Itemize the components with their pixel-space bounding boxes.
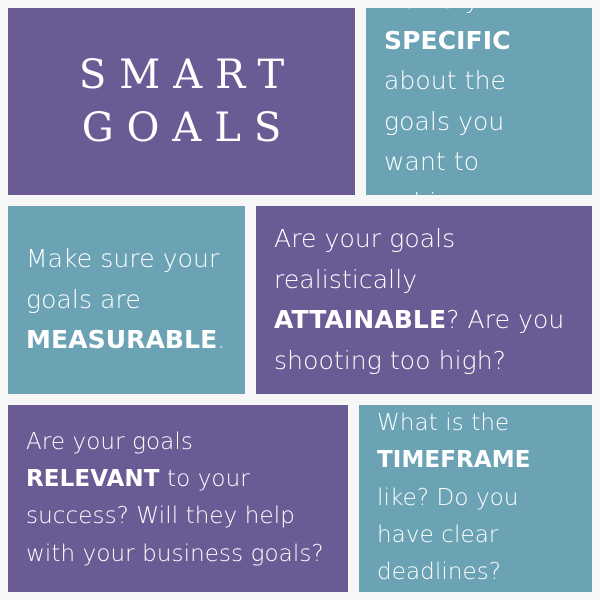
page-title: SMART GOALS	[8, 49, 355, 155]
title-line-goals: GOALS	[22, 102, 341, 155]
panel-timeframe-text: What is the TIMEFRAME like? Do you have …	[359, 405, 592, 591]
panel-attainable-text: Are your goals realistically ATTAINABLE?…	[256, 219, 592, 381]
timeframe-text-after: like? Do you have clear deadlines?	[377, 485, 519, 586]
measurable-text-after: .	[217, 325, 225, 354]
relevant-text-before: Are your goals	[26, 429, 193, 455]
panel-attainable: Are your goals realistically ATTAINABLE?…	[256, 206, 592, 393]
attainable-text-before: Are your goals realistically	[274, 224, 455, 294]
panel-specific: Be very SPECIFIC about the goals you wan…	[366, 8, 592, 195]
attainable-keyword: ATTAINABLE	[274, 305, 446, 334]
measurable-text-before: Make sure your goals are	[26, 244, 219, 314]
specific-text-before: Be very	[384, 8, 480, 14]
timeframe-text-before: What is the	[377, 410, 509, 436]
measurable-keyword: MEASURABLE	[26, 325, 217, 354]
relevant-keyword: RELEVANT	[26, 466, 160, 492]
infographic-row-2: Make sure your goals are MEASURABLE. Are…	[8, 206, 592, 393]
panel-title: SMART GOALS	[8, 8, 355, 195]
infographic-row-1: SMART GOALS Be very SPECIFIC about the g…	[8, 8, 592, 195]
panel-measurable-text: Make sure your goals are MEASURABLE.	[8, 239, 245, 361]
smart-goals-infographic: SMART GOALS Be very SPECIFIC about the g…	[0, 0, 600, 600]
infographic-row-3: Are your goals RELEVANT to your success?…	[8, 405, 592, 592]
panel-specific-text: Be very SPECIFIC about the goals you wan…	[366, 8, 592, 195]
panel-measurable: Make sure your goals are MEASURABLE.	[8, 206, 245, 393]
panel-relevant: Are your goals RELEVANT to your success?…	[8, 405, 348, 592]
timeframe-keyword: TIMEFRAME	[377, 447, 531, 473]
panel-timeframe: What is the TIMEFRAME like? Do you have …	[359, 405, 592, 592]
title-line-smart: SMART	[22, 49, 341, 102]
specific-text-after: about the goals you want to achieve.	[384, 66, 506, 195]
panel-relevant-text: Are your goals RELEVANT to your success?…	[8, 424, 348, 573]
specific-keyword: SPECIFIC	[384, 26, 511, 55]
